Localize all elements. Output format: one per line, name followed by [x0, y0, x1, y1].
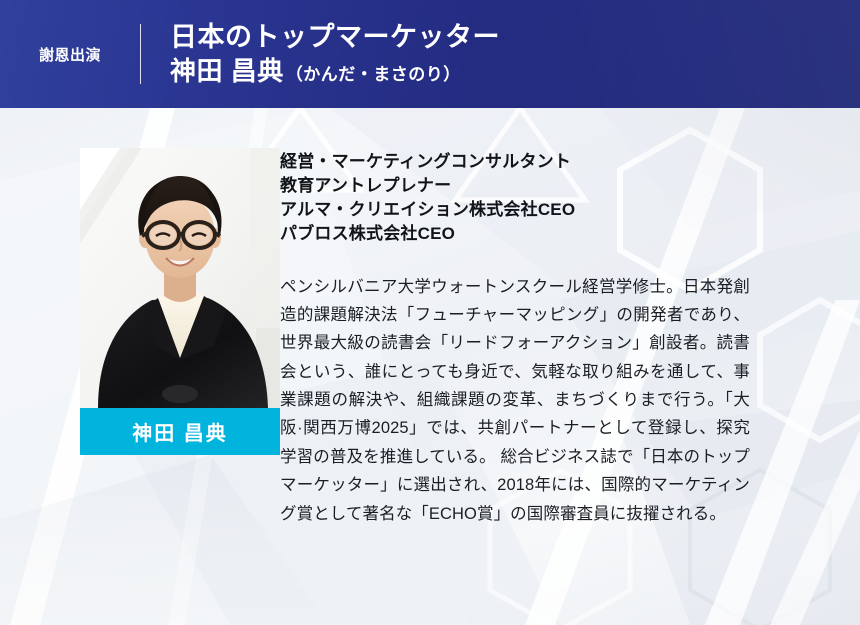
photo-column: 神田 昌典: [0, 108, 280, 625]
speaker-role-1: 経営・マーケティングコンサルタント: [280, 150, 780, 174]
header-speaker-reading: （かんだ・まさのり）: [286, 64, 461, 86]
speaker-nameplate-text: 神田 昌典: [132, 417, 228, 446]
speaker-profile-page: 謝恩出演 日本のトップマーケッター 神田 昌典 （かんだ・まさのり）: [0, 0, 860, 625]
speaker-portrait-photo: [80, 148, 280, 408]
header-title-line1: 日本のトップマーケッター: [170, 20, 500, 55]
header-kicker: 謝恩出演: [0, 44, 140, 65]
speaker-nameplate: 神田 昌典: [80, 408, 280, 455]
speaker-role-2: 教育アントレプレナー: [280, 174, 780, 198]
profile-content: 神田 昌典 経営・マーケティングコンサルタント 教育アントレプレナー アルマ・ク…: [0, 108, 860, 625]
text-column: 経営・マーケティングコンサルタント 教育アントレプレナー アルマ・クリエイション…: [280, 108, 860, 625]
header-title-line2: 神田 昌典 （かんだ・まさのり）: [170, 55, 500, 88]
photo-frame: 神田 昌典: [80, 148, 280, 455]
speaker-biography: ペンシルバニア大学ウォートンスクール経営学修士。日本発創造的課題解決法「フューチ…: [280, 273, 750, 528]
header-title-group: 日本のトップマーケッター 神田 昌典 （かんだ・まさのり）: [140, 20, 500, 88]
page-header: 謝恩出演 日本のトップマーケッター 神田 昌典 （かんだ・まさのり）: [0, 0, 860, 108]
speaker-role-3: アルマ・クリエイション株式会社CEO: [280, 198, 780, 222]
speaker-roles-list: 経営・マーケティングコンサルタント 教育アントレプレナー アルマ・クリエイション…: [280, 150, 780, 247]
speaker-role-4: パブロス株式会社CEO: [280, 222, 780, 246]
header-speaker-name: 神田 昌典: [170, 55, 284, 88]
